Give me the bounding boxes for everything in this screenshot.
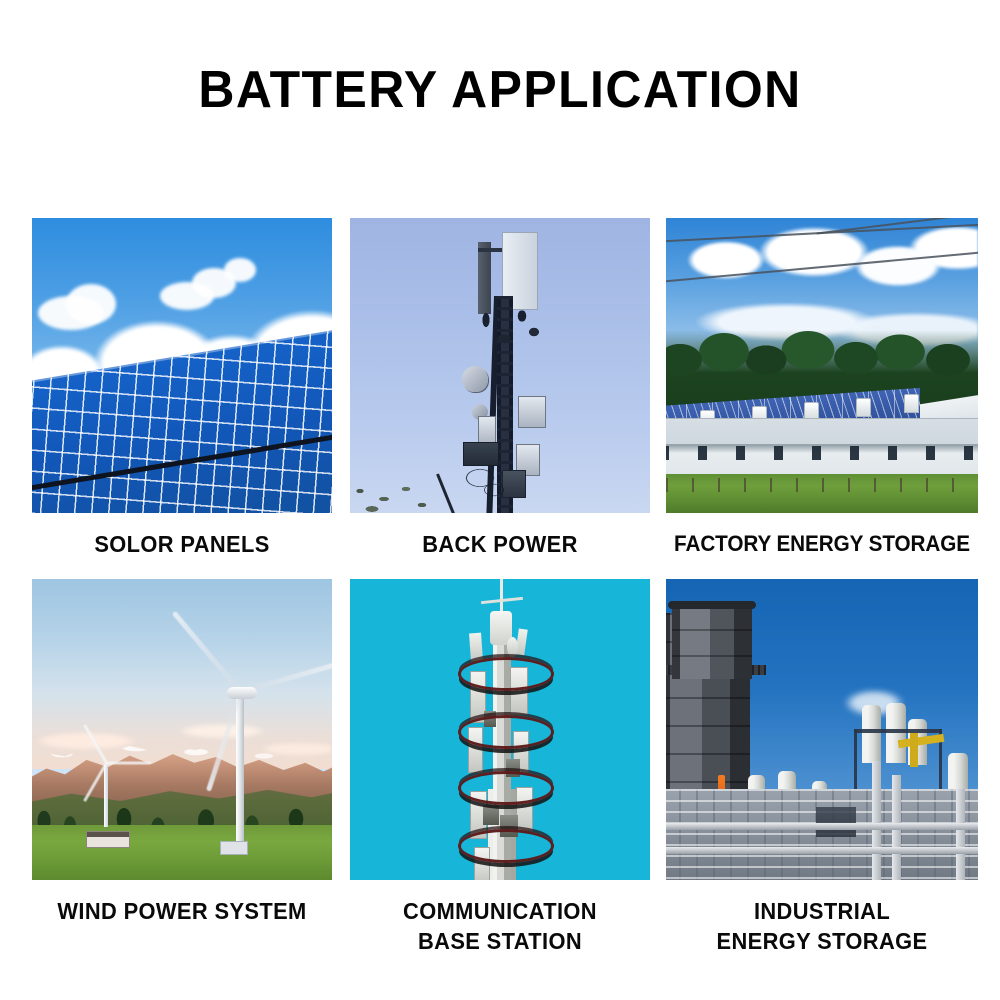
gallery-tile-factory-energy-storage[interactable]: [666, 218, 978, 513]
caption-communication-base-station: COMMUNICATION BASE STATION: [348, 896, 652, 956]
factory-energy-storage-image: [666, 218, 978, 513]
vertical-pipe: [956, 789, 965, 880]
stack-rim: [668, 601, 756, 609]
grass-meadow: [32, 825, 332, 880]
vertical-pipe: [872, 761, 881, 880]
small-antenna: [469, 633, 483, 662]
cable-ring: [458, 771, 554, 805]
page-title: BATTERY APPLICATION: [20, 62, 980, 118]
antenna-panel-side: [478, 242, 491, 314]
roof-vent: [856, 398, 871, 417]
communication-base-station-image: [350, 579, 650, 880]
radio-unit: [483, 805, 499, 825]
gallery-tile-wind-power-system[interactable]: [32, 579, 332, 880]
back-power-image: [350, 218, 650, 513]
turbine-base-building: [220, 841, 248, 855]
wind-turbine-tower: [236, 697, 244, 849]
small-antenna: [507, 637, 518, 657]
cable-ring: [458, 829, 554, 863]
cable-loops: [458, 448, 522, 508]
shadowed-equipment: [816, 807, 856, 837]
fence-posts: [666, 478, 978, 492]
solar-panels-image: [32, 218, 332, 513]
gallery-tile-solar-panels[interactable]: [32, 218, 332, 513]
horizontal-pipe: [666, 823, 978, 830]
microwave-dish-icon: [462, 366, 488, 392]
wind-power-system-image: [32, 579, 332, 880]
horizontal-pipe: [666, 847, 978, 854]
building-window-row: [666, 446, 978, 460]
caption-industrial-energy-storage: INDUSTRIAL ENERGY STORAGE: [668, 896, 976, 956]
antenna-cluster: [476, 306, 546, 348]
cable-ring: [458, 715, 554, 749]
gallery-tile-communication-base-station[interactable]: [350, 579, 650, 880]
farm-house: [86, 831, 130, 848]
caption-wind-power-system: WIND POWER SYSTEM: [30, 896, 334, 926]
gallery-tile-back-power[interactable]: [350, 218, 650, 513]
roof-vent: [904, 394, 919, 413]
wind-turbine-far-blade: [107, 762, 151, 765]
cable-ring: [458, 657, 554, 691]
exhaust-stack-upper: [672, 603, 752, 679]
yellow-column: [910, 733, 918, 767]
tree-branches: [350, 473, 444, 513]
gallery-tile-industrial-energy-storage[interactable]: [666, 579, 978, 880]
wind-turbine-nacelle: [227, 687, 257, 699]
equipment-box: [518, 396, 546, 428]
caption-factory-energy-storage: FACTORY ENERGY STORAGE: [673, 529, 971, 559]
caption-solar-panels: SOLOR PANELS: [30, 529, 334, 559]
industrial-energy-storage-image: [666, 579, 978, 880]
caption-back-power: BACK POWER: [348, 529, 652, 559]
cloud-shape: [224, 258, 256, 282]
wind-turbine-far-tower: [104, 765, 108, 827]
battery-application-poster: BATTERY APPLICATION SOLOR PANELS: [0, 0, 1000, 1000]
